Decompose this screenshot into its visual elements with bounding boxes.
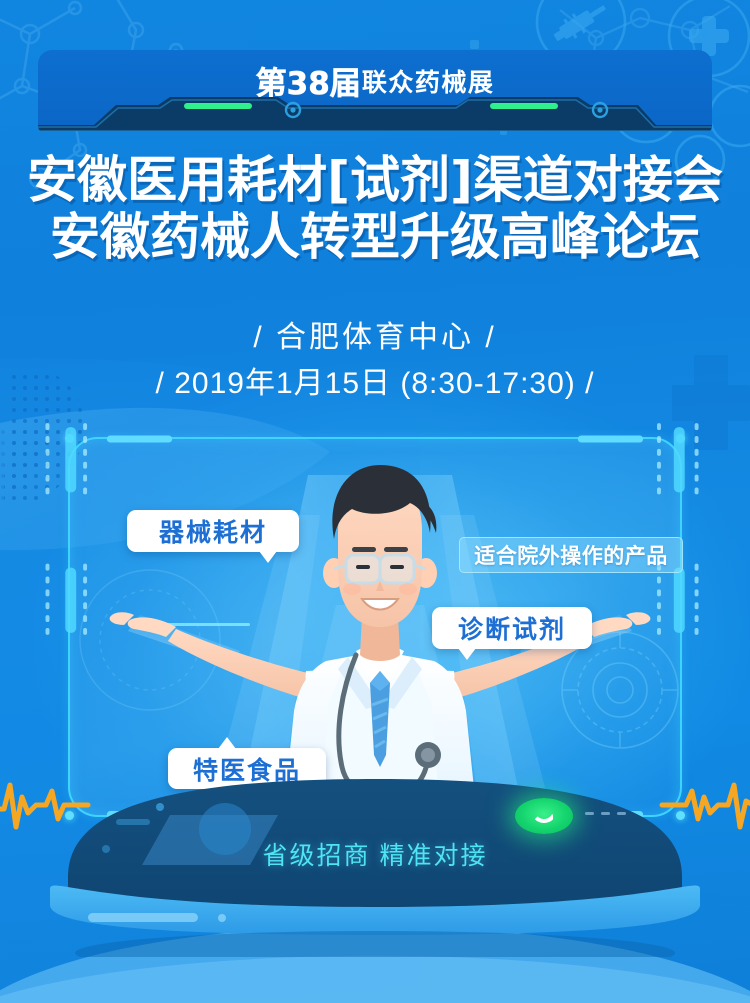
tag-qixie-haocai[interactable]: 器械耗材 bbox=[127, 510, 299, 552]
tech-decor-strip bbox=[38, 91, 712, 131]
green-accent-bar bbox=[490, 103, 558, 109]
ecg-heartbeat-icon-right bbox=[604, 775, 750, 835]
tag-shihe-yuanwai[interactable]: 适合院外操作的产品 bbox=[459, 537, 683, 573]
phone-speaker bbox=[88, 913, 198, 922]
page-title: 安徽医用耗材[试剂]渠道对接会 安徽药械人转型升级高峰论坛 bbox=[0, 152, 750, 266]
datetime-text: / 2019年1月15日 (8:30-17:30) / bbox=[0, 360, 750, 408]
syringe-icon bbox=[550, 0, 611, 47]
tag-zhenduan-shiji[interactable]: 诊断试剂 bbox=[432, 607, 592, 649]
decor-circle bbox=[710, 86, 750, 146]
phone-shadow bbox=[75, 931, 675, 957]
event-details: / 合肥体育中心 / / 2019年1月15日 (8:30-17:30) / bbox=[0, 315, 750, 408]
green-accent-bar bbox=[184, 103, 252, 109]
phone-camera bbox=[156, 803, 164, 811]
glasses bbox=[346, 555, 414, 583]
event-poster: 第38届联众药械展 安徽医用耗材[试剂]渠道对接会 安徽药械人转型升级高峰论坛 … bbox=[0, 0, 750, 1003]
phone-call-button[interactable] bbox=[515, 798, 573, 834]
ecg-heartbeat-icon-left bbox=[0, 775, 146, 835]
venue-text: / 合肥体育中心 / bbox=[0, 315, 750, 360]
phone-caption: 省级招商 精准对接 bbox=[0, 836, 750, 872]
phone-call-icon bbox=[531, 810, 557, 823]
bottom-wave bbox=[0, 956, 750, 1003]
phone-mic bbox=[218, 914, 226, 922]
title-line-1: 安徽医用耗材[试剂]渠道对接会 bbox=[0, 152, 750, 209]
header-banner: 第38届联众药械展 bbox=[38, 50, 712, 131]
title-line-2: 安徽药械人转型升级高峰论坛 bbox=[0, 209, 750, 266]
